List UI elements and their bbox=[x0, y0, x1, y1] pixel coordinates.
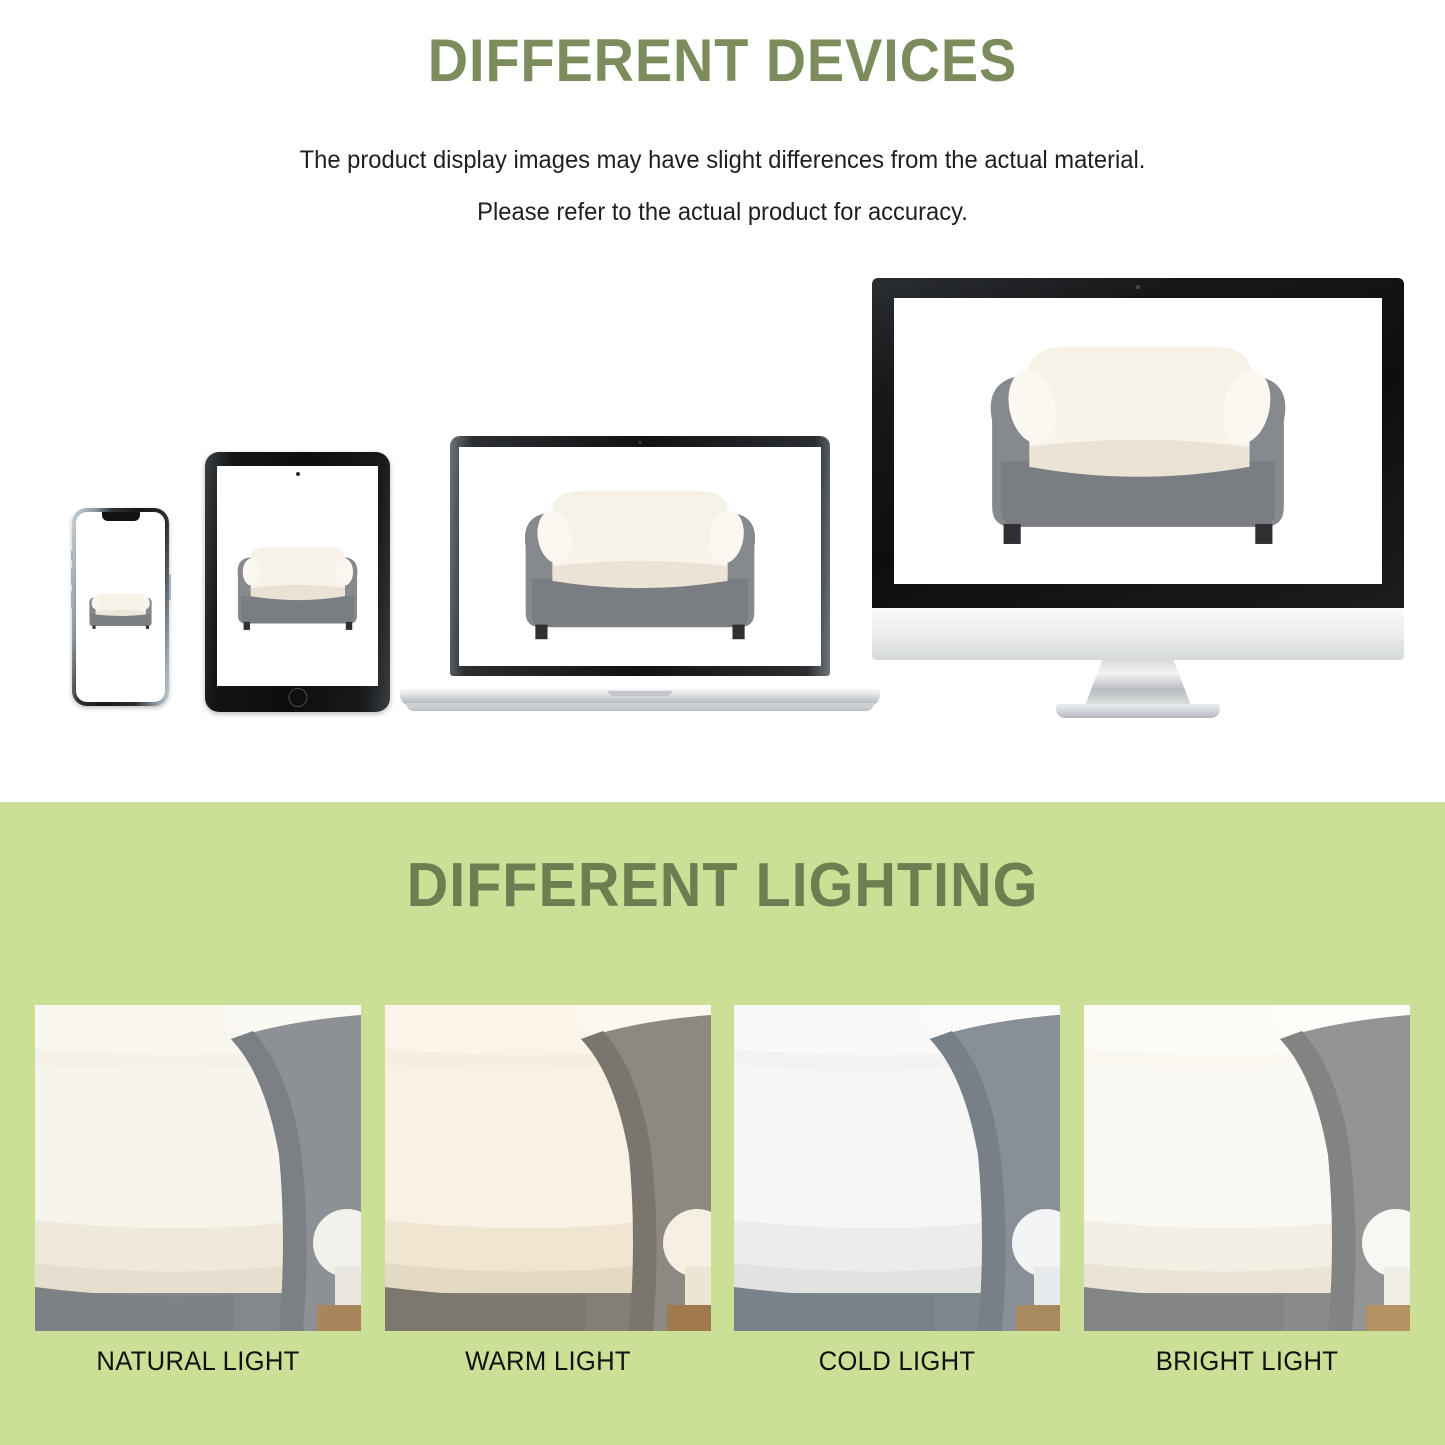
lighting-heading: DIFFERENT LIGHTING bbox=[51, 850, 1395, 921]
monitor-mockup bbox=[872, 278, 1404, 718]
lighting-label: COLD LIGHT bbox=[742, 1346, 1052, 1377]
lighting-label: NATURAL LIGHT bbox=[43, 1346, 353, 1377]
laptop-screen bbox=[459, 447, 821, 666]
phone-mute-switch bbox=[71, 550, 73, 560]
phone-power-button bbox=[169, 574, 171, 600]
lighting-photo bbox=[385, 1005, 711, 1331]
sofa-product-image bbox=[894, 298, 1382, 584]
devices-subtitle-line2: Please refer to the actual product for a… bbox=[36, 198, 1409, 227]
lighting-photo bbox=[1084, 1005, 1410, 1331]
phone-volume-down-button bbox=[71, 591, 73, 608]
lighting-tile-natural: NATURAL LIGHT bbox=[35, 1005, 361, 1331]
tablet-screen bbox=[217, 466, 378, 686]
lighting-photo bbox=[35, 1005, 361, 1331]
lighting-tile-warm: WARM LIGHT bbox=[385, 1005, 711, 1331]
sofa-product-image bbox=[76, 512, 165, 702]
phone-mockup bbox=[72, 508, 169, 706]
devices-heading: DIFFERENT DEVICES bbox=[51, 26, 1395, 95]
laptop-foot bbox=[406, 703, 874, 711]
product-detail-page: DIFFERENT DEVICES The product display im… bbox=[0, 0, 1445, 1445]
lighting-tile-cold: COLD LIGHT bbox=[734, 1005, 1060, 1331]
lighting-tiles: NATURAL LIGHT bbox=[35, 1005, 1410, 1331]
monitor-bezel bbox=[872, 278, 1404, 608]
laptop-camera-icon bbox=[639, 441, 642, 444]
tablet-home-button[interactable] bbox=[288, 688, 307, 707]
monitor-camera-icon bbox=[1136, 285, 1140, 289]
laptop-lid bbox=[450, 436, 830, 676]
sofa-product-image bbox=[459, 447, 821, 666]
lighting-label: WARM LIGHT bbox=[393, 1346, 703, 1377]
devices-subtitle-line1: The product display images may have slig… bbox=[36, 146, 1409, 175]
lighting-photo bbox=[734, 1005, 1060, 1331]
laptop-mockup bbox=[400, 436, 880, 714]
different-lighting-section: DIFFERENT LIGHTING bbox=[0, 802, 1445, 1445]
monitor-stand-foot bbox=[1056, 704, 1220, 718]
phone-notch-icon bbox=[102, 512, 140, 521]
monitor-chin bbox=[872, 608, 1404, 660]
phone-volume-up-button bbox=[71, 568, 73, 585]
lighting-label: BRIGHT LIGHT bbox=[1092, 1346, 1402, 1377]
monitor-screen bbox=[894, 298, 1382, 584]
lighting-tile-bright: BRIGHT LIGHT bbox=[1084, 1005, 1410, 1331]
tablet-mockup bbox=[205, 452, 390, 712]
monitor-stand-neck bbox=[1084, 660, 1192, 708]
sofa-product-image bbox=[217, 466, 378, 686]
different-devices-section: DIFFERENT DEVICES The product display im… bbox=[0, 0, 1445, 802]
phone-screen bbox=[76, 512, 165, 702]
